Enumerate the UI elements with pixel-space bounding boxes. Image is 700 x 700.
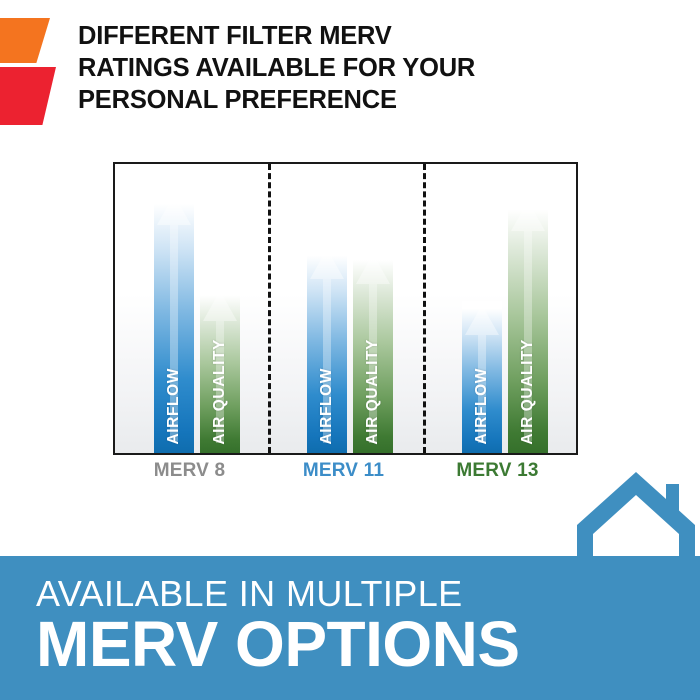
up-arrow-icon: [465, 305, 499, 443]
arrow-head: [310, 249, 344, 279]
up-arrow-icon: [511, 201, 545, 441]
up-arrow-icon: [356, 254, 390, 443]
arrow-head: [465, 305, 499, 335]
arrow-shaft: [524, 231, 532, 441]
merv-comparison-chart: AIRFLOW AIR QUALITY: [113, 162, 578, 455]
infographic-root: DIFFERENT FILTER MERV RATINGS AVAILABLE …: [0, 0, 700, 700]
bar-merv-11-airflow: AIRFLOW: [307, 245, 347, 453]
red-parallelogram-icon: [0, 67, 56, 125]
arrow-shaft: [323, 279, 331, 443]
arrow-shaft: [369, 284, 377, 443]
orange-parallelogram-icon: [0, 18, 50, 63]
arrow-head: [511, 201, 545, 231]
up-arrow-icon: [203, 291, 237, 443]
bar-merv-13-air-quality: AIR QUALITY: [508, 197, 548, 453]
bar-merv-8-air-quality: AIR QUALITY: [200, 287, 240, 453]
up-arrow-icon: [310, 249, 344, 443]
bar-merv-13-airflow: AIRFLOW: [462, 301, 502, 453]
chart-group-merv-11: AIRFLOW AIR QUALITY: [268, 164, 423, 453]
chart-category-label-merv-11: MERV 11: [266, 460, 421, 482]
chart-group-merv-8: AIRFLOW AIR QUALITY: [115, 164, 268, 453]
bar-merv-11-air-quality: AIR QUALITY: [353, 250, 393, 453]
chart-category-label-merv-8: MERV 8: [113, 460, 266, 482]
arrow-head: [203, 291, 237, 321]
arrow-head: [356, 254, 390, 284]
page-title: DIFFERENT FILTER MERV RATINGS AVAILABLE …: [78, 20, 638, 116]
banner-title: MERV OPTIONS: [36, 612, 520, 676]
arrow-head: [157, 195, 191, 225]
arrow-shaft: [216, 321, 224, 443]
chart-category-label-merv-13: MERV 13: [421, 460, 574, 482]
arrow-shaft: [170, 225, 178, 441]
bar-merv-8-airflow: AIRFLOW: [154, 191, 194, 453]
arrow-shaft: [478, 335, 486, 443]
up-arrow-icon: [157, 195, 191, 441]
chart-group-merv-13: AIRFLOW AIR QUALITY: [423, 164, 576, 453]
house-icon: [573, 468, 700, 560]
